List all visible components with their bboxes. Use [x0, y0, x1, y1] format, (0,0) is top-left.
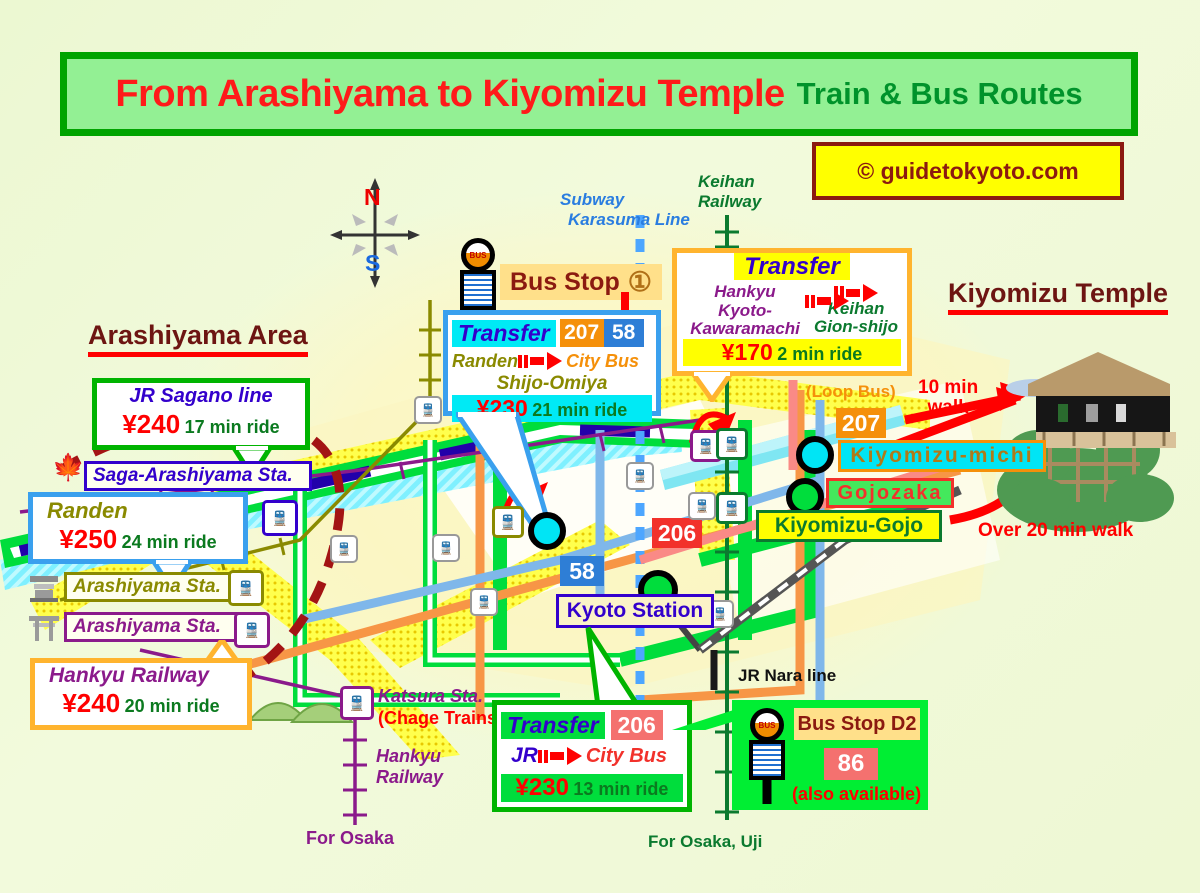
station-icon-subway-b: 🚆 [688, 492, 716, 520]
torii-icon [28, 612, 60, 642]
map-canvas: N S From Arashiyama to Kiyomizu Temple T… [0, 0, 1200, 893]
hankyu-label-line1: Hankyu [376, 746, 443, 767]
map-marker-kiyomizu-michi [796, 436, 834, 474]
bus-stop-d2-label: Bus Stop D2 [794, 708, 920, 740]
transfer-1-from: Randen [452, 351, 518, 372]
hankyu-callout: Hankyu Railway ¥240 20 min ride [30, 658, 252, 730]
transfer-2-callout-tail [690, 372, 734, 402]
randen-fare: ¥250 [59, 524, 117, 554]
loop-bus-label: (Loop Bus) [806, 382, 896, 402]
transfer-2-from-station-2: Kawaramachi [681, 320, 809, 339]
randen-duration: 24 min ride [122, 532, 217, 552]
bus-stop-pole-icon: BUS [744, 708, 790, 804]
bus-stop-d2-panel: BUS Bus Stop D2 86 (also available) [732, 700, 928, 810]
walk-10min-line1: 10 min [918, 378, 978, 398]
label-kiyomizu-gojo: Kiyomizu-Gojo [756, 510, 942, 542]
station-plate-arashiyama-hankyu: Arashiyama Sta. [64, 612, 240, 642]
for-osaka-label: For Osaka [306, 828, 394, 849]
maple-leaf-icon: 🍁 [52, 452, 84, 483]
kiyomizu-temple-heading: Kiyomizu Temple [948, 278, 1168, 315]
transfer-2-to-station: Gion-shijo [809, 318, 903, 337]
subway-label-line2: Karasuma Line [568, 210, 690, 230]
randen-name: Randen [47, 498, 243, 524]
jr-sagano-name: JR Sagano line [97, 385, 305, 408]
heading-underline [88, 352, 308, 357]
transfer-3-callout-tail [580, 626, 660, 708]
transfer-2-from-station-1: Kyoto- [681, 302, 809, 321]
jr-sagano-duration: 17 min ride [185, 417, 280, 437]
label-gojozaka: Gojozaka [826, 478, 954, 508]
map-marker-shijo-omiya [528, 512, 566, 550]
station-icon-subway-a: 🚆 [470, 588, 498, 616]
transfer-3-badge-206: 206 [611, 710, 663, 740]
arashiyama-area-heading: Arashiyama Area [88, 320, 308, 357]
katsura-note: (Chage Trains) [378, 708, 503, 730]
bus-stop-d2-route-86: 86 [824, 748, 878, 780]
jr-sagano-fare: ¥240 [122, 409, 180, 439]
transfer-2-from-line: Hankyu [681, 283, 809, 302]
katsura-name: Katsura Sta. [378, 686, 503, 708]
transfer-arrow-icon [518, 352, 562, 370]
station-icon-hankyu-arashiyama: 🚆 [234, 612, 270, 648]
transfer-3-from: JR [511, 744, 538, 768]
station-icon-randen-arashiyama: 🚆 [228, 570, 264, 606]
page-title-main: From Arashiyama to Kiyomizu Temple [115, 73, 784, 116]
station-icon-hankyu-mid: 🚆 [626, 462, 654, 490]
page-title: From Arashiyama to Kiyomizu Temple Train… [60, 52, 1138, 136]
station-icon-jr-saga: 🚆 [262, 500, 298, 536]
station-plate-kyoto-station: Kyoto Station [556, 594, 714, 628]
transfer-1-at-station: Shijo-Omiya [448, 373, 656, 395]
hankyu-railway-line-label: Hankyu Railway [376, 746, 443, 787]
map-badge-58: 58 [560, 556, 604, 586]
hankyu-name: Hankyu Railway [49, 664, 247, 688]
subway-karasuma-label: Subway Karasuma Line [560, 190, 690, 229]
shrine-gate-icon [28, 572, 60, 602]
hankyu-duration: 20 min ride [125, 696, 220, 716]
transfer-jr-citybus-box: Transfer 206 JR City Bus ¥230 13 min rid… [492, 700, 692, 812]
map-badge-206: 206 [652, 518, 702, 548]
walk-over20-label: Over 20 min walk [978, 520, 1133, 542]
station-icon-randen-mid2: 🚆 [432, 534, 460, 562]
for-osaka-uji-label: For Osaka, Uji [648, 832, 762, 852]
station-plate-arashiyama-randen: Arashiyama Sta. [64, 572, 240, 602]
subway-label-line1: Subway [560, 190, 690, 210]
station-icon-kiyomizu-gojo-keihan: 🚆 [716, 492, 748, 524]
transfer-2-duration: 2 min ride [777, 344, 862, 364]
keihan-label-line1: Keihan [698, 172, 761, 192]
arashiyama-area-heading-text: Arashiyama Area [88, 320, 308, 350]
hankyu-fare: ¥240 [62, 688, 120, 718]
transfer-2-arrow-icon [805, 292, 849, 310]
bus-stop-pole-icon: BUS [455, 238, 501, 318]
map-badge-207: 207 [836, 408, 886, 438]
keihan-railway-label: Keihan Railway [698, 172, 761, 211]
walk-10min-label: 10 min walk [918, 378, 978, 418]
transfer-1-badge-58: 58 [604, 319, 644, 347]
station-icon-randen-north: 🚆 [414, 396, 442, 424]
walk-10min-line2: walk [918, 398, 978, 418]
transfer-hankyu-keihan-box: Transfer Hankyu Kyoto- Kawaramachi Keiha… [672, 248, 912, 376]
transfer-randen-citybus-box: Transfer 207 58 Randen City Bus Shijo-Om… [443, 310, 661, 416]
compass: N S [330, 178, 420, 288]
copyright-badge: © guidetokyoto.com [812, 142, 1124, 200]
heading-underline [948, 310, 1168, 315]
page-title-sub: Train & Bus Routes [797, 76, 1083, 112]
jr-nara-line-label: JR Nara line [738, 666, 836, 686]
station-label-katsura: Katsura Sta. (Chage Trains) [378, 686, 503, 729]
label-kiyomizu-michi: Kiyomizu-michi [838, 440, 1046, 472]
randen-callout: Randen ¥250 24 min ride [28, 492, 248, 564]
bus-stop-d2-note: (also available) [792, 784, 921, 805]
station-plate-saga-arashiyama: Saga-Arashiyama Sta. [84, 461, 312, 491]
transfer-1-badge-207: 207 [560, 319, 604, 347]
bus-stop-1-label: Bus Stop [510, 268, 620, 297]
transfer-2-fare: ¥170 [722, 339, 773, 365]
transfer-3-fare: ¥230 [516, 774, 569, 801]
transfer-3-title: Transfer [501, 712, 605, 739]
jr-sagano-callout: JR Sagano line ¥240 17 min ride [92, 378, 310, 450]
transfer-3-to: City Bus [586, 745, 667, 768]
transfer-3-duration: 13 min ride [573, 779, 668, 799]
hankyu-label-line2: Railway [376, 767, 443, 788]
transfer-2-title: Transfer [734, 253, 850, 280]
compass-south-label: S [365, 250, 380, 277]
transfer-1-title: Transfer [452, 320, 556, 347]
station-icon-randen-mid: 🚆 [330, 535, 358, 563]
compass-north-label: N [364, 184, 381, 211]
station-icon-shijo-omiya: 🚆 [492, 506, 524, 538]
keihan-label-line2: Railway [698, 192, 761, 212]
station-icon-gion-shijo: 🚆 [716, 428, 748, 460]
transfer-arrow-icon [538, 747, 582, 765]
transfer-1-to: City Bus [566, 351, 639, 372]
kiyomizu-temple-heading-text: Kiyomizu Temple [948, 278, 1168, 308]
station-icon-katsura: 🚆 [340, 686, 374, 720]
